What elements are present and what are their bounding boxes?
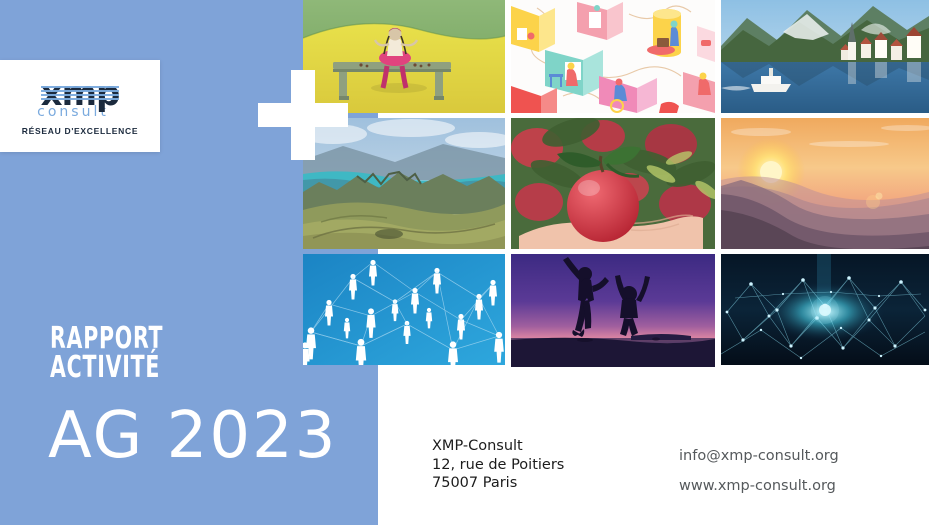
street-address: 12, rue de Poitiers [432, 456, 564, 475]
website-link[interactable]: www.xmp-consult.org [679, 472, 839, 502]
gallery-tile-graphic-digital-network [721, 254, 929, 365]
report-title: RAPPORT ACTIVITÉ [50, 325, 163, 382]
headline-ag-2023: AG 2023 [48, 404, 337, 468]
gallery-tile-photo-mountain-sunrise [721, 118, 929, 249]
gallery-tile-illustration-isometric-rooms [511, 0, 715, 113]
plus-icon [258, 70, 348, 160]
gallery-tile-photo-lakeside-village [721, 0, 929, 113]
city-postcode: 75007 Paris [432, 474, 564, 493]
organisation-name: XMP-Consult [432, 437, 564, 456]
title-slide: xmp consult RÉSEAU D'EXCELLENCE RAPPORT … [0, 0, 933, 525]
logo-wordmark-label: xmp [41, 74, 120, 114]
logo-card: xmp consult RÉSEAU D'EXCELLENCE [0, 60, 160, 152]
contact-links: info@xmp-consult.org www.xmp-consult.org [679, 442, 839, 501]
email-link[interactable]: info@xmp-consult.org [679, 442, 839, 472]
image-gallery [303, 0, 933, 367]
report-title-line2: ACTIVITÉ [50, 354, 163, 383]
address-block: XMP-Consult 12, rue de Poitiers 75007 Pa… [432, 437, 564, 493]
logo-tagline: RÉSEAU D'EXCELLENCE [22, 126, 138, 136]
gallery-tile-photo-jumping-silhouettes [511, 254, 715, 367]
logo-wordmark-text: xmp [41, 77, 120, 111]
gallery-tile-graphic-people-network [303, 254, 505, 365]
gallery-tile-photo-hand-holding-apple [511, 118, 715, 249]
